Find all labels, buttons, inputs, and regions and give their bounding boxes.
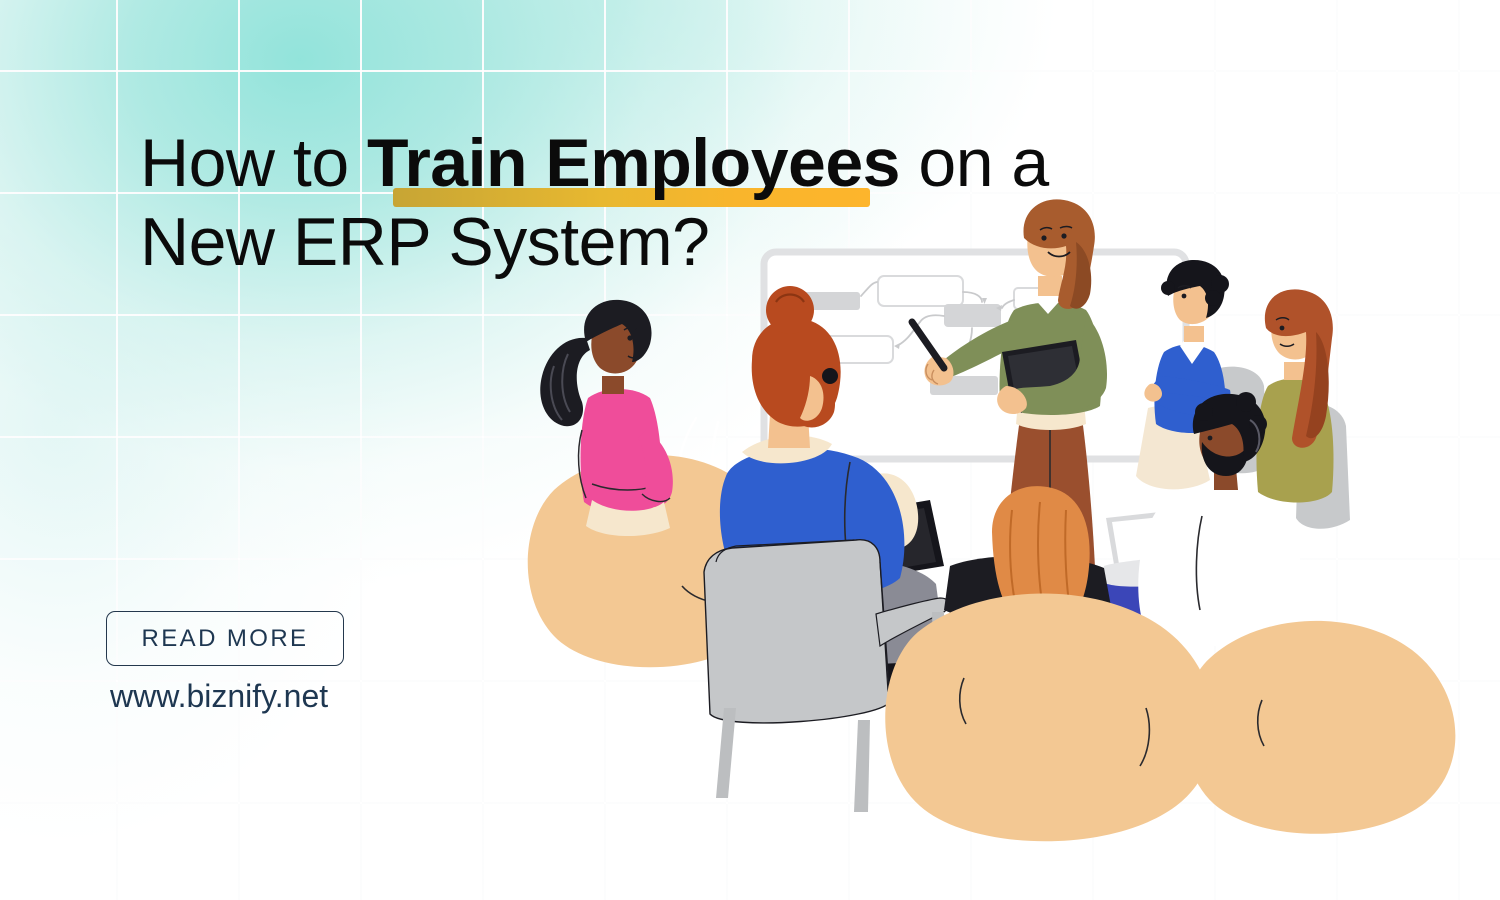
page-title: How to Train Employees on a New ERP Syst…: [140, 124, 1150, 282]
headline-emphasis: Train Employees: [367, 125, 900, 201]
training-session-illustration: [520, 180, 1500, 900]
headline-part-2: on a: [900, 125, 1049, 201]
read-more-button[interactable]: READ MORE: [106, 611, 344, 666]
blog-banner: How to Train Employees on a New ERP Syst…: [0, 0, 1500, 900]
headline-line-2: New ERP System?: [140, 204, 709, 280]
headline-part-1: How to: [140, 125, 367, 201]
site-url[interactable]: www.biznify.net: [110, 678, 328, 715]
beanbag-right-foreground: [1183, 621, 1455, 834]
person-olive-top: [1256, 289, 1350, 528]
